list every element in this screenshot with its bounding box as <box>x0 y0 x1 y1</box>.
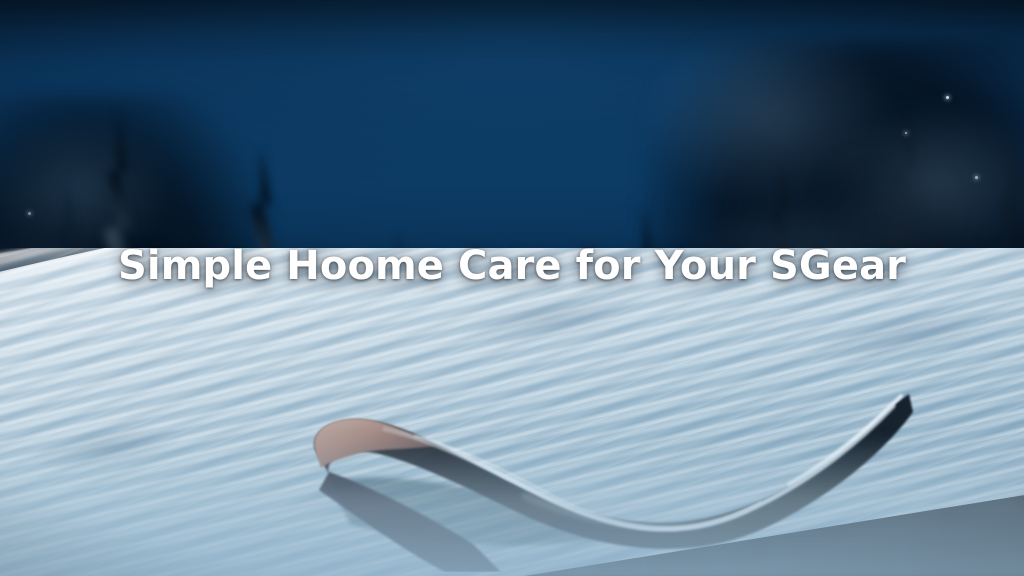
sparkle-mote <box>905 132 907 134</box>
snow-foreground-blur <box>0 434 1024 576</box>
slide-canvas: Simple Hoome Care for Your SGear <box>0 0 1024 576</box>
sparkle-mote <box>946 96 949 99</box>
page-title: Simple Hoome Care for Your SGear <box>118 246 906 286</box>
sparkle-mote <box>28 212 31 215</box>
title-layer: Simple Hoome Care for Your SGear <box>0 246 1024 286</box>
sparkle-mote <box>975 176 978 179</box>
